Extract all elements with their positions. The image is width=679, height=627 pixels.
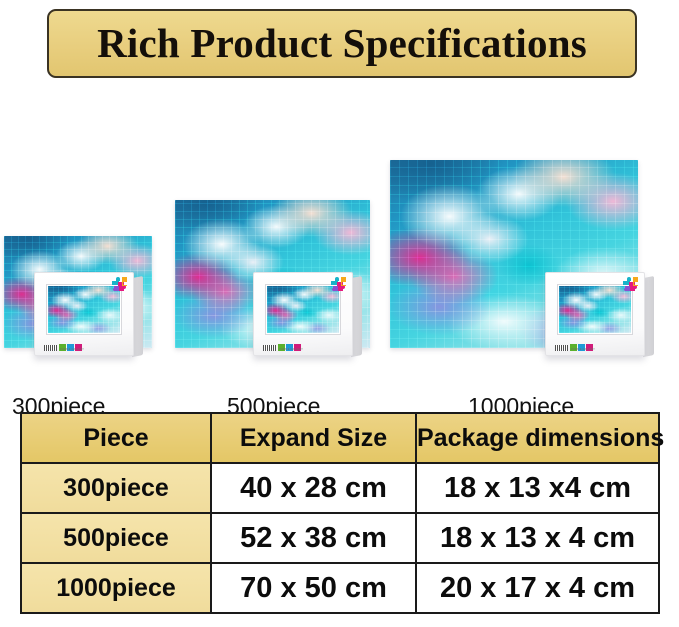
cell-package-dimensions: 18 x 13 x4 cm bbox=[416, 463, 659, 513]
puzzle-pieces-badge-icon bbox=[110, 275, 130, 292]
box-brand-mark: PUZZLE GALLERY bbox=[555, 344, 593, 351]
product-group-300piece: PUZZLE GALLERY 300piece bbox=[4, 136, 189, 386]
box-cloud-artwork bbox=[267, 286, 339, 333]
table-header-row: Piece Expand Size Package dimensions bbox=[21, 413, 659, 463]
box-brand-text: PUZZLE GALLERY bbox=[60, 348, 84, 351]
cell-piece: 1000piece bbox=[21, 563, 211, 613]
box-cloud-artwork bbox=[559, 286, 631, 333]
column-header-piece: Piece bbox=[21, 413, 211, 463]
page-title-banner: Rich Product Specifications bbox=[47, 9, 637, 78]
box-front-face: PUZZLE GALLERY bbox=[253, 272, 353, 356]
page-title: Rich Product Specifications bbox=[97, 23, 587, 64]
box-brand-text: PUZZLE GALLERY bbox=[571, 348, 595, 351]
product-box-300piece: PUZZLE GALLERY bbox=[34, 272, 134, 356]
puzzle-pieces-badge-icon bbox=[329, 275, 349, 292]
box-brand-mark: PUZZLE GALLERY bbox=[263, 344, 301, 351]
cell-expand-size: 52 x 38 cm bbox=[211, 513, 416, 563]
box-front-face: PUZZLE GALLERY bbox=[34, 272, 134, 356]
box-front-face: PUZZLE GALLERY bbox=[545, 272, 645, 356]
cell-package-dimensions: 18 x 13 x 4 cm bbox=[416, 513, 659, 563]
barcode-icon bbox=[263, 345, 276, 351]
column-header-package-dimensions: Package dimensions bbox=[416, 413, 659, 463]
product-group-1000piece: PUZZLE GALLERY 1000piece bbox=[390, 136, 670, 386]
box-brand-mark: PUZZLE GALLERY bbox=[44, 344, 82, 351]
table-row: 1000piece 70 x 50 cm 20 x 17 x 4 cm bbox=[21, 563, 659, 613]
column-header-expand-size: Expand Size bbox=[211, 413, 416, 463]
cell-expand-size: 40 x 28 cm bbox=[211, 463, 416, 513]
barcode-icon bbox=[44, 345, 57, 351]
table-row: 300piece 40 x 28 cm 18 x 13 x4 cm bbox=[21, 463, 659, 513]
box-cloud-artwork bbox=[48, 286, 120, 333]
box-brand-text: PUZZLE GALLERY bbox=[279, 348, 303, 351]
product-group-500piece: PUZZLE GALLERY 500piece bbox=[175, 136, 405, 386]
product-box-1000piece: PUZZLE GALLERY bbox=[545, 272, 645, 356]
table-row: 500piece 52 x 38 cm 18 x 13 x 4 cm bbox=[21, 513, 659, 563]
cell-piece: 500piece bbox=[21, 513, 211, 563]
product-showcase: PUZZLE GALLERY 300piece bbox=[0, 96, 679, 386]
cell-package-dimensions: 20 x 17 x 4 cm bbox=[416, 563, 659, 613]
cell-expand-size: 70 x 50 cm bbox=[211, 563, 416, 613]
barcode-icon bbox=[555, 345, 568, 351]
specifications-table: Piece Expand Size Package dimensions 300… bbox=[20, 412, 660, 614]
puzzle-pieces-badge-icon bbox=[621, 275, 641, 292]
cell-piece: 300piece bbox=[21, 463, 211, 513]
product-box-500piece: PUZZLE GALLERY bbox=[253, 272, 353, 356]
